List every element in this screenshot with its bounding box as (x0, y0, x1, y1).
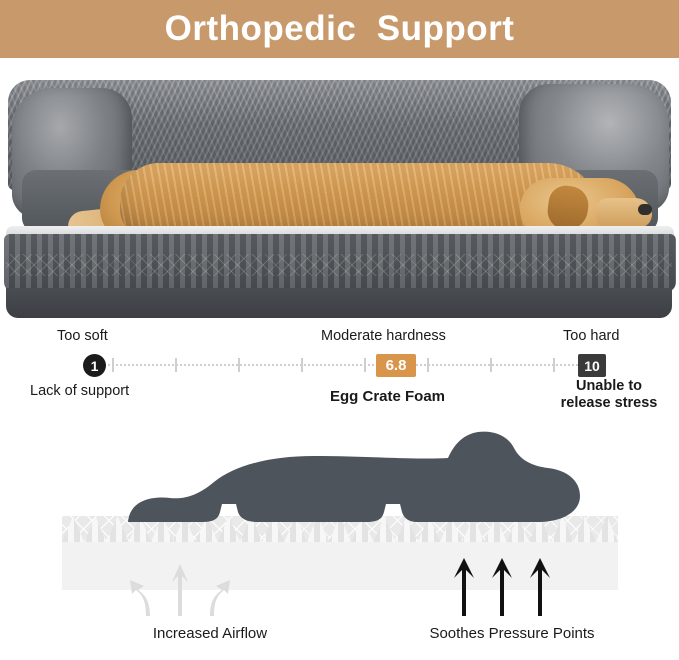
mattress-lower-layer (6, 288, 672, 318)
scale-label-too-hard: Too hard (563, 328, 619, 344)
header-banner: Orthopedic Support (0, 0, 679, 58)
scale-value-min: 1 (83, 354, 106, 377)
foam-diagram: Increased Airflow Soothes Pressure Point… (0, 420, 679, 660)
scale-tick (175, 358, 177, 372)
scale-tick (427, 358, 429, 372)
scale-value-selected: 6.8 (376, 354, 416, 377)
scale-sublabel-line2: release stress (561, 395, 658, 411)
product-infographic: Orthopedic Support Too soft Moderate har… (0, 0, 679, 660)
page-title: Orthopedic Support (165, 9, 515, 49)
scale-sublabel-lack-of-support: Lack of support (30, 383, 129, 399)
scale-tick (364, 358, 366, 372)
scale-dotted-line (96, 364, 586, 366)
pressure-arrows-icon (450, 556, 560, 618)
caption-soothes-pressure-points: Soothes Pressure Points (392, 625, 632, 642)
dog-nose (638, 204, 652, 215)
scale-sublabel-egg-crate-foam: Egg Crate Foam (330, 388, 445, 405)
caption-increased-airflow: Increased Airflow (110, 625, 310, 642)
scale-sublabel-line1: Unable to (576, 378, 642, 394)
scale-tick (238, 358, 240, 372)
scale-tick (553, 358, 555, 372)
dog-silhouette-icon (118, 426, 588, 536)
airflow-arrows-icon (128, 560, 238, 618)
scale-sublabel-unable-to-release-stress: Unable to release stress (549, 378, 669, 412)
hardness-scale: Too soft Moderate hardness Too hard 1 6.… (0, 322, 679, 422)
hero-product-photo (0, 58, 679, 318)
scale-value-max: 10 (578, 354, 606, 377)
scale-label-too-soft: Too soft (57, 328, 108, 344)
scale-tick (490, 358, 492, 372)
scale-tick (301, 358, 303, 372)
scale-label-moderate: Moderate hardness (321, 328, 446, 344)
mattress-zigzag-stitch (6, 254, 672, 276)
scale-tick (112, 358, 114, 372)
